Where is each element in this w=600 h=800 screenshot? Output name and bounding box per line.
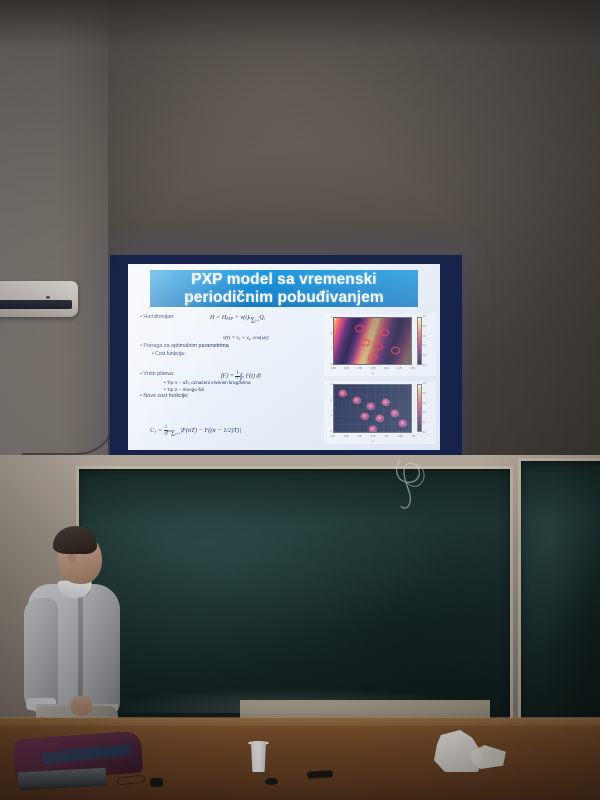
formula-drive: v(t) = v0 + vac cos(ωt) xyxy=(223,335,268,341)
ytick: 2 xyxy=(331,332,332,335)
chart-bottom-cbar-ticks: 1.0 0.8 0.6 0.4 0.2 0.0 xyxy=(423,382,435,434)
xtick: 1.5 xyxy=(412,435,415,438)
presenter-hand xyxy=(70,696,92,716)
cbar-tick: 0.4 xyxy=(423,411,435,414)
chart-top-xlabel: ω xyxy=(324,372,421,375)
cbar-tick: 0.4 xyxy=(423,344,435,347)
chart-bottom-colorbar xyxy=(417,384,422,432)
annotation-ring xyxy=(374,343,383,350)
chart-bottom-xlabel: ω xyxy=(324,440,421,443)
cbar-tick: 1.0 xyxy=(423,382,435,385)
cbar-tick: 0.0 xyxy=(423,364,435,367)
bullet-tip-2: Tip-2 – mnogo širi xyxy=(164,386,330,393)
cbar-tick: 0.6 xyxy=(423,402,435,405)
resonance-blob xyxy=(398,419,407,427)
ytick: 1 xyxy=(331,347,332,350)
presenter-hair xyxy=(53,526,97,554)
xtick: 1.25 xyxy=(397,367,402,370)
resonance-blob xyxy=(375,414,384,422)
presenter-ear xyxy=(68,553,76,563)
cbar-tick: 0.2 xyxy=(423,421,435,424)
cbar-tick: 0.6 xyxy=(423,335,435,338)
cost-lhs: ⟨F⟩ = xyxy=(220,373,235,379)
annotation-ring xyxy=(391,347,400,354)
cost-tail: F(t) dt xyxy=(246,373,262,379)
blackboard-right-panel xyxy=(518,458,600,724)
lecture-hall-photo: PXP model sa vremenski periodičnim pobuđ… xyxy=(0,0,600,800)
formula-cost: ⟨F⟩ = 1τ∫0 F(t) dt xyxy=(220,371,261,382)
vt-lhs: v(t) = v xyxy=(223,335,239,341)
c1-eq: = xyxy=(156,427,164,434)
ac-vent xyxy=(0,300,72,309)
xtick: 1.0 xyxy=(385,435,388,438)
ham-term-sub: i xyxy=(264,317,265,321)
ham-sum: LΣi=1 xyxy=(249,317,259,325)
resonance-blob xyxy=(368,425,377,433)
desk-object-pointer xyxy=(307,770,333,778)
cost-int-sub: 0 xyxy=(242,376,244,380)
chart-bottom-xticks: 0.0 0.25 0.5 0.75 1.0 1.25 1.5 xyxy=(331,435,415,438)
cbar-tick: 1.0 xyxy=(423,315,435,318)
chart-top-colorbar xyxy=(417,317,422,365)
resonance-blob xyxy=(360,412,369,420)
annotation-ring xyxy=(380,329,389,336)
paper-cup xyxy=(250,742,267,772)
presenter-arm xyxy=(24,598,58,710)
bullet-nove-cost-funkcije: Nove cost funkcije: xyxy=(140,393,330,401)
ceiling-shadow xyxy=(0,0,600,48)
chart-top-cbar-ticks: 1.0 0.8 0.6 0.4 0.2 0.0 xyxy=(423,315,435,367)
hanging-cable-icon xyxy=(392,458,438,512)
resonance-blob xyxy=(366,402,375,410)
xtick: 0.00 xyxy=(331,367,336,370)
presenter-shirt-placket xyxy=(78,594,83,702)
ham-lhs: H = H xyxy=(210,314,226,321)
xtick: 0.25 xyxy=(344,435,349,438)
chart-top-xticks: 0.00 0.25 0.50 0.75 1.00 1.25 1.50 xyxy=(331,367,415,370)
bullet-potraga: Potraga za optimalnim parametrima xyxy=(140,343,330,351)
annotation-ring xyxy=(361,339,370,346)
xtick: 0.75 xyxy=(371,367,376,370)
ytick: 1 xyxy=(331,414,332,417)
blackboard-shading xyxy=(521,461,600,721)
projection-area: PXP model sa vremenski periodičnim pobuđ… xyxy=(110,255,462,460)
chart-bottom-axes xyxy=(333,384,412,433)
annotation-ring xyxy=(355,325,364,332)
formula-c1: C1 = 13fMΣn=1|F(nT) − F((n − 1/2)T)| xyxy=(150,425,241,438)
cbar-tick: 0.2 xyxy=(423,354,435,357)
slide-title: PXP model sa vremenski periodičnim pobuđ… xyxy=(150,270,418,307)
presentation-slide: PXP model sa vremenski periodičnim pobuđ… xyxy=(128,264,440,450)
ytick: 3 xyxy=(331,316,332,319)
ytick: 0 xyxy=(331,430,332,433)
resonance-blob xyxy=(352,396,361,404)
annotation-ring xyxy=(368,354,377,361)
desk-object-remote xyxy=(150,778,163,787)
ac-indicator-light xyxy=(46,296,50,299)
slide-bullet-list: Hamiltonijan: Potraga za optimalnim para… xyxy=(134,314,330,401)
ham-mid: + v(t) xyxy=(233,314,249,321)
cost-den: τ xyxy=(237,376,239,381)
chart-bottom-yticks: 3 2 1 0 xyxy=(325,383,332,433)
ytick: 2 xyxy=(331,399,332,402)
chart-top-axes xyxy=(333,317,412,365)
xtick: 0.50 xyxy=(357,367,362,370)
c1-sum: MΣn=1 xyxy=(168,430,180,438)
xtick: 1.25 xyxy=(398,435,403,438)
xtick: 0.0 xyxy=(331,435,334,438)
cbar-tick: 0.8 xyxy=(423,325,435,328)
c1-tail: |F(nT) − F((n − 1/2)T)| xyxy=(180,427,241,434)
chart-bottom-heatmap: 3 2 1 0 0.0 0.25 0.5 0.75 1.0 1.25 1.5 ω xyxy=(324,381,436,444)
chart-top-yticks: 3 2 1 0 xyxy=(325,316,332,366)
xtick: 0.75 xyxy=(371,435,376,438)
vt-tail: cos(ωt) xyxy=(252,335,269,341)
formula-hamiltonian: H = HPXP + v(t)LΣi=1Qi xyxy=(210,314,265,325)
resonance-blob xyxy=(381,398,390,406)
resonance-blob xyxy=(390,409,399,417)
xtick: 0.5 xyxy=(358,435,361,438)
left-wall-column xyxy=(0,0,108,466)
resonance-blob xyxy=(338,389,347,397)
ytick: 0 xyxy=(331,363,332,366)
bullet-cost-funkcija: Cost funkcija: xyxy=(152,351,330,358)
ytick: 3 xyxy=(331,383,332,386)
desk-object-cap xyxy=(265,778,278,785)
xtick: 1.50 xyxy=(410,367,415,370)
vt-mid: + v xyxy=(240,335,248,341)
air-conditioner xyxy=(0,281,78,317)
xtick: 0.25 xyxy=(344,367,349,370)
cbar-tick: 0.8 xyxy=(423,392,435,395)
xtick: 1.00 xyxy=(384,367,389,370)
cbar-tick: 0.0 xyxy=(423,431,435,434)
chart-top-heatmap: 3 2 1 0 0.00 0.25 0.50 0.75 1.00 1.25 1.… xyxy=(324,314,436,376)
